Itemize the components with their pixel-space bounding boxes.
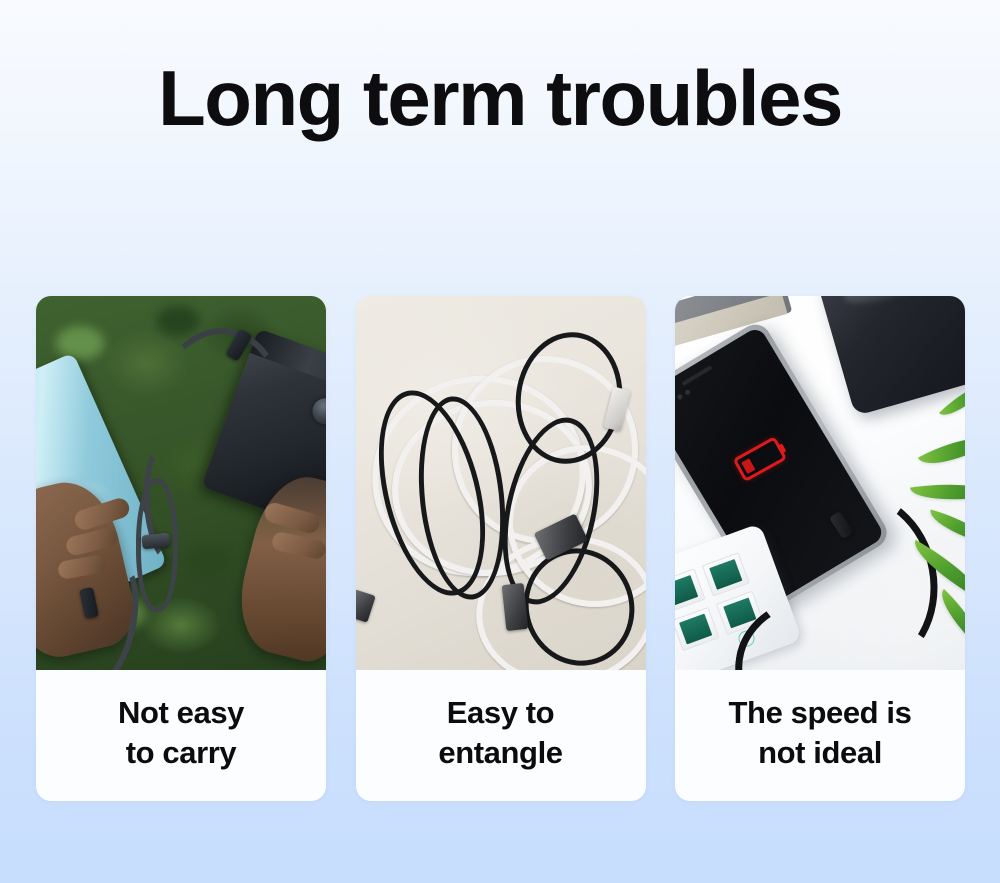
phone-earpiece [681, 365, 712, 386]
black-cable-connector [501, 583, 528, 631]
power-bank-highlight [841, 296, 940, 310]
plant-leaf [926, 510, 965, 545]
trouble-card-speed-is-not-ideal[interactable]: The speed is not ideal [675, 296, 965, 801]
plant-leaf [918, 425, 965, 477]
usb-port [702, 552, 750, 596]
sensor-dot [675, 398, 676, 405]
black-power-bank [817, 296, 965, 416]
card-caption-easy-to-entangle: Easy to entangle [356, 670, 646, 801]
foliage-highlight [56, 326, 104, 360]
cable-tie-strap [141, 533, 170, 550]
foliage-shadow [156, 306, 200, 336]
trouble-card-easy-to-entangle[interactable]: Easy to entangle [356, 296, 646, 801]
card-caption-speed-is-not-ideal: The speed is not ideal [675, 670, 965, 801]
page-title: Long term troubles [0, 58, 1000, 140]
black-cable-connector [356, 589, 376, 622]
usb-port [675, 568, 706, 612]
sensor-dot [676, 394, 683, 401]
empty-battery-icon [733, 436, 788, 482]
phone-sensor-dots [675, 389, 691, 405]
photo-phone-with-empty-battery-icon-charging-from-usb-hub [675, 296, 965, 670]
trouble-cards-row: Not easy to carry Easy to entangle [36, 296, 965, 801]
power-bank-button [309, 395, 326, 428]
card-caption-not-easy-to-carry: Not easy to carry [36, 670, 326, 801]
foliage-shadow [186, 546, 232, 578]
trouble-card-not-easy-to-carry[interactable]: Not easy to carry [36, 296, 326, 801]
photo-tangled-white-and-black-cables-on-desk [356, 296, 646, 670]
usb-port [675, 607, 720, 651]
battery-level-bar [741, 458, 755, 474]
sensor-dot [684, 389, 691, 396]
photo-hand-holding-blue-phone-connected-to-power-bank-outdoors [36, 296, 326, 670]
plant-leaf [910, 477, 965, 508]
